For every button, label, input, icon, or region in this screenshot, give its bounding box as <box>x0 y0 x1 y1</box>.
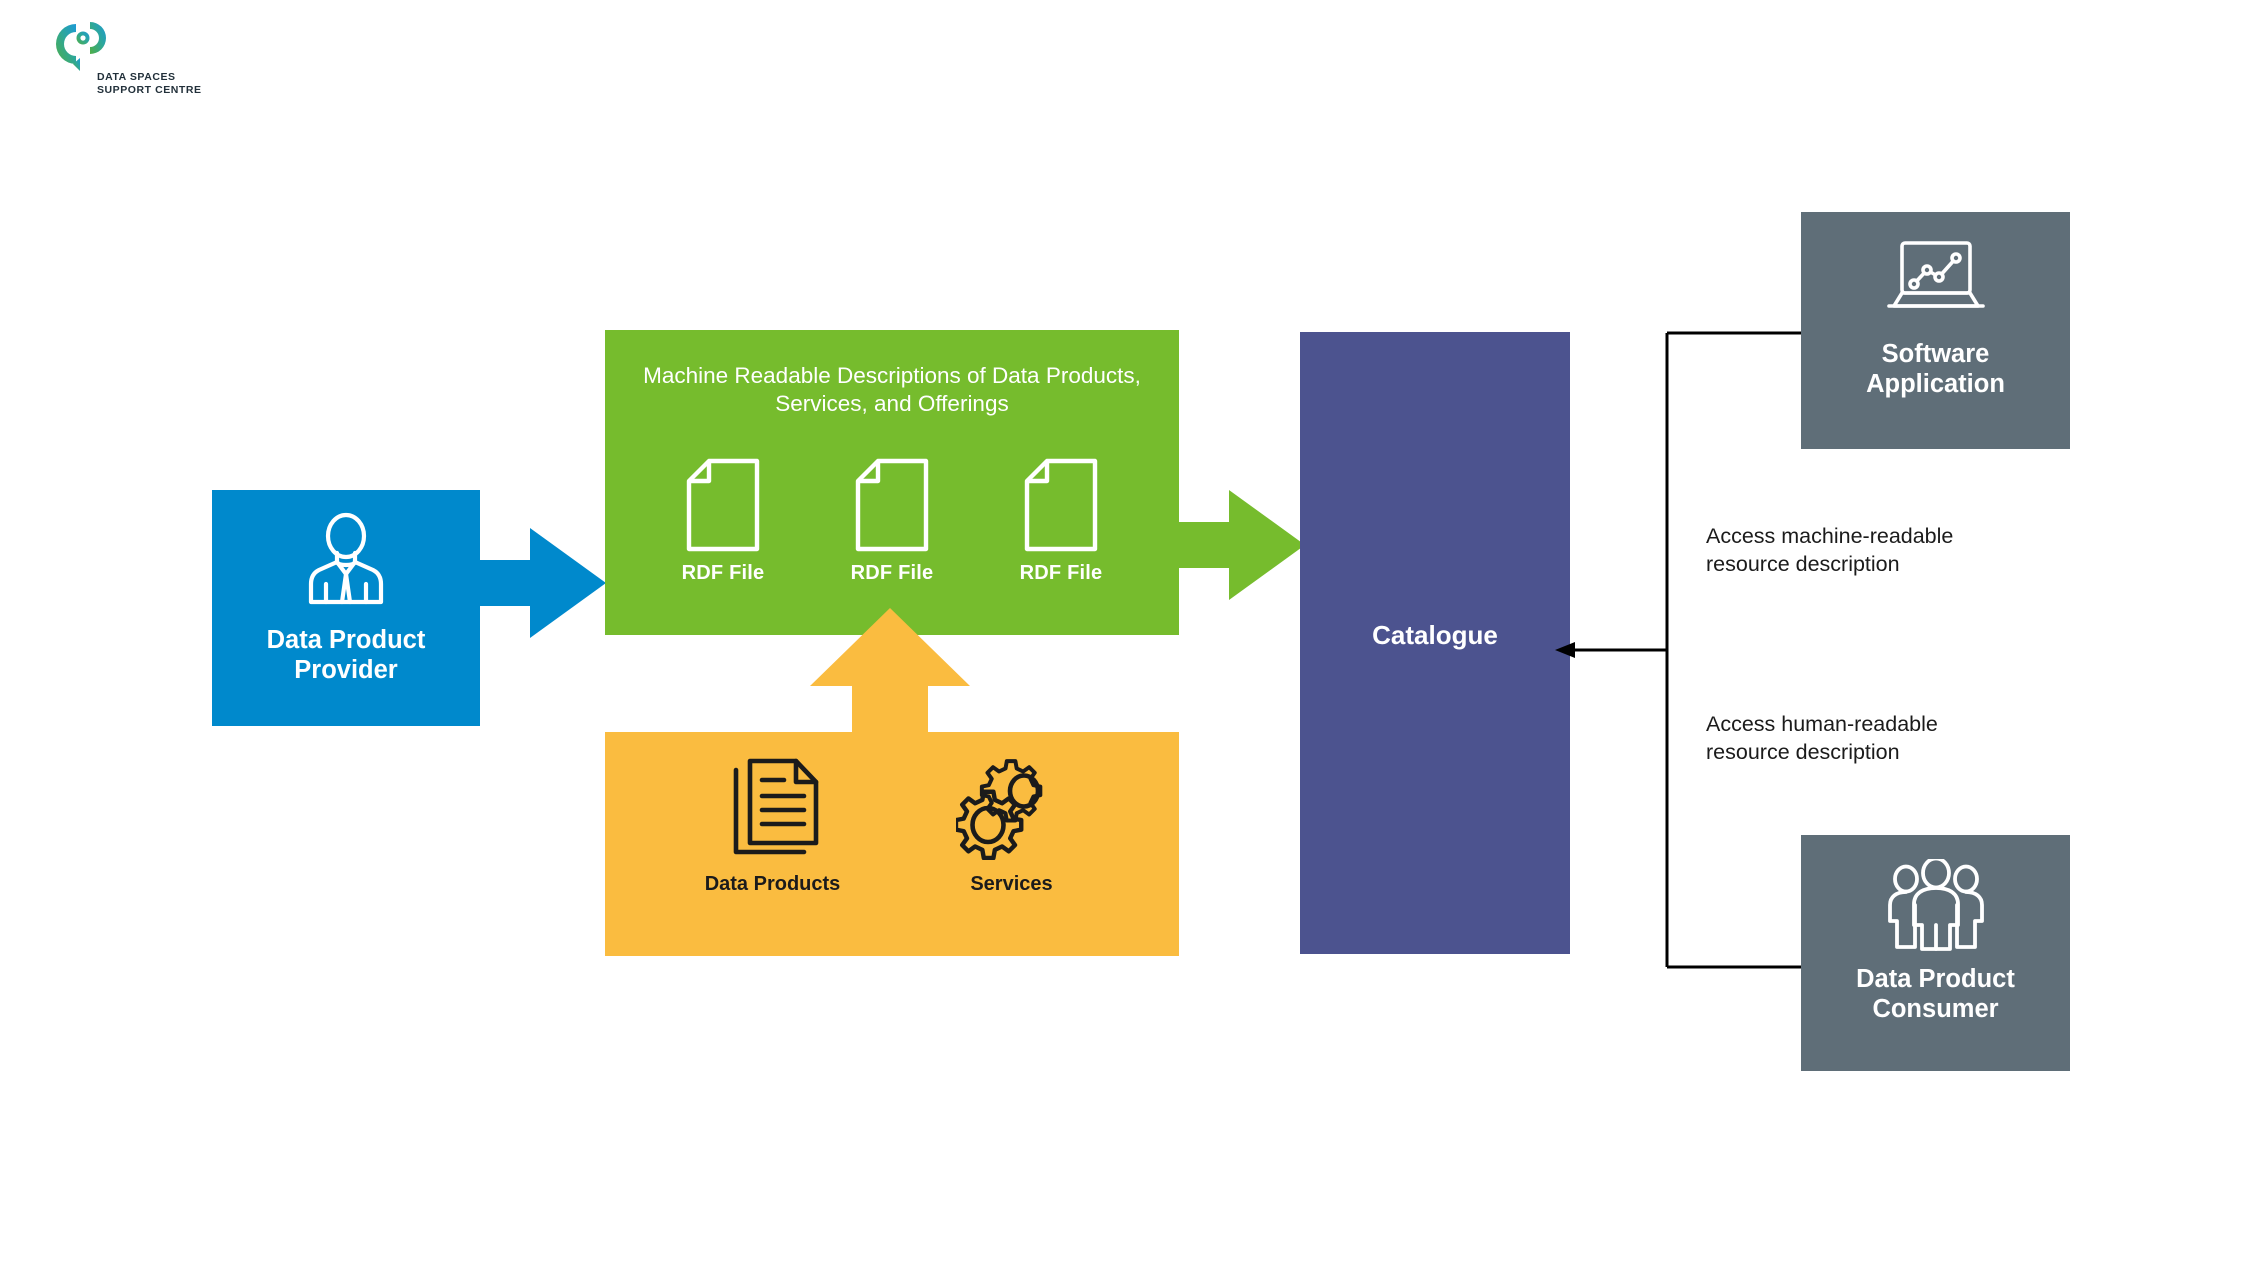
node-machine-readable-descriptions[interactable]: Machine Readable Descriptions of Data Pr… <box>605 330 1179 635</box>
node-label-data-product-provider: Data Product Provider <box>212 626 480 685</box>
node-data-product-provider[interactable]: Data Product Provider <box>212 490 480 726</box>
edge-label-human-readable-access: Access human-readable resource descripti… <box>1706 710 1938 767</box>
diagram-canvas: DATA SPACES SUPPORT CENTRE Data Product … <box>0 0 2251 1266</box>
orange-item-caption: Data Products <box>705 873 841 896</box>
rdf-file-item[interactable]: RDF File <box>1003 458 1119 585</box>
stacked-documents-icon <box>724 758 822 865</box>
node-catalogue[interactable]: Catalogue <box>1300 332 1570 954</box>
rdf-file-caption: RDF File <box>1020 562 1103 585</box>
node-label-software-application: Software Application <box>1801 340 2070 399</box>
orange-item-services[interactable]: Services <box>922 758 1102 896</box>
node-label-data-product-consumer: Data Product Consumer <box>1801 965 2070 1024</box>
gears-icon <box>956 758 1068 865</box>
rdf-file-caption: RDF File <box>682 562 765 585</box>
document-file-icon <box>686 458 760 552</box>
laptop-chart-icon <box>1886 240 1986 318</box>
business-person-icon <box>299 512 393 608</box>
software-label-line-1: Software <box>1882 340 1990 368</box>
node-software-application[interactable]: Software Application <box>1801 212 2070 449</box>
logo-mark-icon <box>50 18 108 72</box>
orange-item-data-products[interactable]: Data Products <box>683 758 863 896</box>
edge-label-machine-readable-access: Access machine-readable resource descrip… <box>1706 522 1953 579</box>
logo-line-2: SUPPORT CENTRE <box>97 84 202 97</box>
document-file-icon <box>855 458 929 552</box>
consumer-label-line-2: Consumer <box>1872 995 1998 1023</box>
green-panel-title: Machine Readable Descriptions of Data Pr… <box>631 362 1153 419</box>
people-group-icon <box>1884 859 1988 951</box>
node-data-products-and-services[interactable]: Data Products Services <box>605 732 1179 956</box>
node-label-catalogue: Catalogue <box>1300 620 1570 650</box>
rdf-file-item[interactable]: RDF File <box>665 458 781 585</box>
green-to-catalogue-arrow <box>1177 490 1305 600</box>
consumer-label-line-1: Data Product <box>1856 965 2015 993</box>
software-label-line-2: Application <box>1866 370 2005 398</box>
node-data-product-consumer[interactable]: Data Product Consumer <box>1801 835 2070 1071</box>
document-file-icon <box>1024 458 1098 552</box>
orange-item-caption: Services <box>970 873 1052 896</box>
orange-panel-items: Data Products Services <box>605 758 1179 896</box>
rdf-file-caption: RDF File <box>851 562 934 585</box>
rdf-file-item[interactable]: RDF File <box>834 458 950 585</box>
provider-to-green-arrow <box>478 528 606 638</box>
logo-line-1: DATA SPACES <box>97 71 202 84</box>
logo-wordmark: DATA SPACES SUPPORT CENTRE <box>97 71 202 96</box>
orange-to-green-arrow <box>810 608 970 738</box>
rdf-file-list: RDF File RDF File RDF Fi <box>605 458 1179 585</box>
data-spaces-support-centre-logo: DATA SPACES SUPPORT CENTRE <box>42 18 222 98</box>
